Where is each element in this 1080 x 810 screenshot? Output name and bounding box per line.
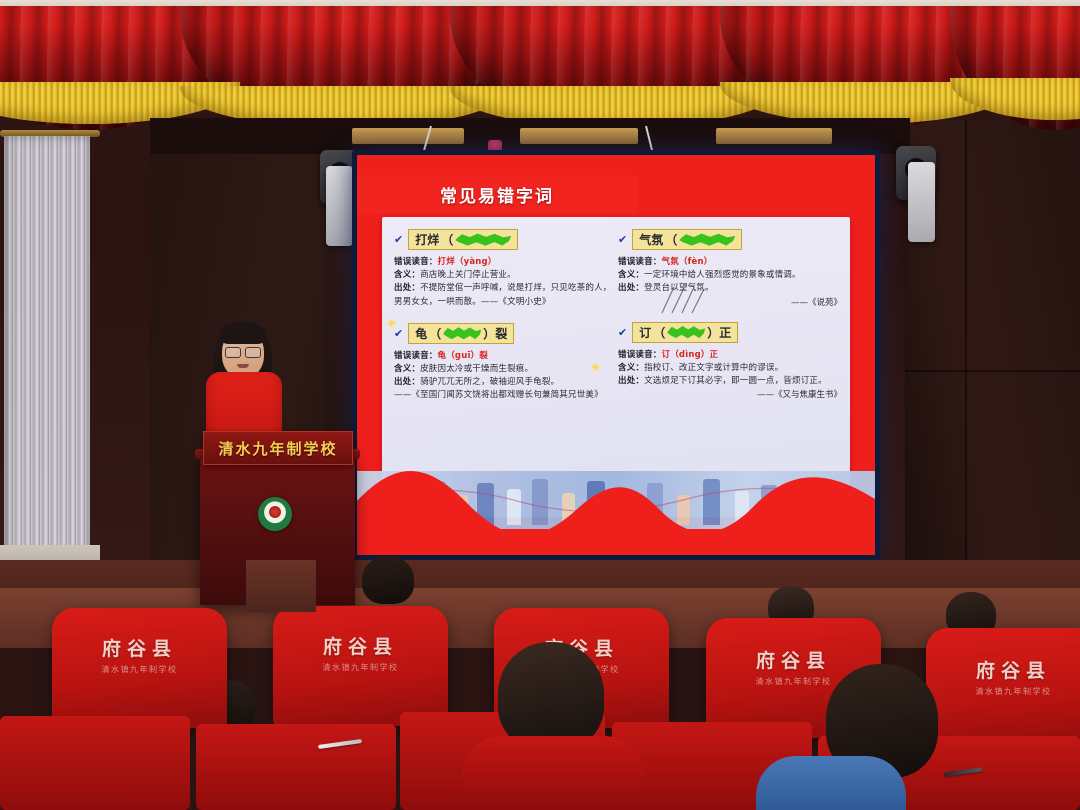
presentation-slide: 常见易错字词 ✔ 打烊 （ (357, 155, 875, 555)
meaning-label: 含义： (618, 270, 644, 280)
redaction-mark (667, 326, 705, 339)
glasses (225, 347, 261, 356)
slide-title: 常见易错字词 (440, 182, 554, 207)
keyword-char: 龟 (415, 325, 427, 342)
wood-batten-center (520, 128, 638, 144)
podium-banner-text: 清水九年制学校 (218, 438, 337, 459)
keyword-box: 订 （ ）正 (632, 322, 738, 343)
sparkle-icon: ✦ (386, 317, 397, 332)
keyword-box: 打烊 （ (408, 229, 518, 250)
wrong-reading-pinyin: （yàng） (455, 257, 497, 267)
slide-column-right: ✔ 气氛 （ 错误读音：气氛（fèn） 含义：一定环境中给人强烈感觉的景象或情调… (618, 229, 842, 414)
citation-line: ——《至国门闻苏文饶将出都戏赠长句兼简其兄世美》 (394, 389, 618, 402)
citation: ——《又与焦康生书》 (618, 388, 842, 400)
source-text: 骑驴兀兀无所之，破袖迎风手龟裂。 (420, 377, 559, 387)
seat-front[interactable] (196, 724, 396, 810)
hair-fringe (220, 322, 266, 344)
wrong-reading-word: 订 (662, 350, 671, 360)
citation: ——《至国门闻苏文饶将出都戏赠长句兼简其兄世美》 (394, 390, 603, 400)
wrong-reading-line: 错误读音：订（dìng）正 (618, 349, 842, 362)
school-crest-icon (258, 497, 292, 531)
keyword-box: 龟 （ ）裂 (408, 323, 514, 344)
wrong-reading-label: 错误读音： (394, 257, 438, 267)
meaning-text: 指校订、改正文字或计算中的谬误。 (644, 363, 783, 373)
meaning-line: 含义：指校订、改正文字或计算中的谬误。 (618, 362, 842, 375)
auditorium-photo: 常见易错字词 ✔ 打烊 （ (0, 0, 1080, 810)
podium-banner: 清水九年制学校 (203, 431, 353, 465)
seat-label-primary: 府谷县 (926, 656, 1080, 683)
source-label: 出处： (394, 377, 420, 387)
keyword-box: 气氛 （ (632, 229, 742, 250)
entry-dayang: ✔ 打烊 （ 错误读音：打烊（yàng） 含义：商店晚上关门停止营业。 (394, 229, 618, 309)
paren-open: （ (429, 325, 441, 342)
wrong-reading-word: 打烊 (438, 257, 455, 267)
check-icon: ✔ (394, 233, 403, 246)
entry-junlie: ✦ ✔ 龟 （ ）裂 错误读音：龟（guī）裂 (394, 323, 618, 403)
source-label: 出处： (618, 376, 644, 386)
citation: ——《文明小史》 (481, 297, 551, 307)
meaning-line: 含义：商店晚上关门停止营业。 (394, 269, 618, 282)
slide-column-left: ✔ 打烊 （ 错误读音：打烊（yàng） 含义：商店晚上关门停止营业。 (394, 229, 618, 416)
seat-back[interactable]: 府谷县 清水镇九年制学校 (926, 628, 1080, 748)
wrong-reading-label: 错误读音： (618, 350, 662, 360)
student-shirt-blue (756, 756, 906, 810)
sparkle-icon: ✦ (590, 361, 601, 376)
keyword-char: 打烊 (415, 231, 439, 248)
paren-open: （ (441, 231, 453, 248)
paren-open: （ (665, 231, 677, 248)
stage-valance (0, 0, 1080, 130)
speaker-cabinet-left (326, 166, 353, 246)
seat-front[interactable] (0, 716, 190, 810)
source-line: 出处：登灵台以望气氛。 (618, 282, 842, 295)
slide-title-bar: 常见易错字词 (357, 175, 637, 213)
meaning-text: 商店晚上关门停止营业。 (420, 270, 516, 280)
wrong-reading-line: 错误读音：龟（guī）裂 (394, 350, 618, 363)
seat-back[interactable]: 府谷县 清水镇九年制学校 (273, 606, 448, 726)
redaction-mark (455, 233, 511, 246)
keyword-char: 气氛 (639, 231, 663, 248)
wood-batten-left (352, 128, 464, 144)
source-line: 出处：文选烦足下订其必字，即一圆一点，皆烦订正。 (618, 375, 842, 388)
speaker-cabinet-right (908, 162, 935, 242)
entry-dingzheng: ✔ 订 （ ）正 错误读音：订（dìng）正 含义 (618, 322, 842, 401)
wrong-reading-pinyin: （dìng）正 (670, 350, 718, 360)
slide-wave-decoration (357, 455, 875, 555)
entry-qifen: ✔ 气氛 （ 错误读音：气氛（fèn） 含义：一定环境中给人强烈感觉的景象或情调… (618, 229, 842, 308)
wrong-reading-pinyin: （fèn） (679, 257, 713, 267)
check-icon: ✔ (618, 233, 627, 246)
seat-label-secondary: 清水镇九年制学校 (926, 686, 1080, 697)
wrong-reading-pinyin: （guī）裂 (446, 351, 488, 361)
keyword-char: 订 (639, 324, 651, 341)
meaning-label: 含义： (394, 270, 420, 280)
led-screen[interactable]: 常见易错字词 ✔ 打烊 （ (357, 155, 875, 555)
wrong-reading-line: 错误读音：气氛（fèn） (618, 256, 842, 269)
meaning-label: 含义： (618, 363, 644, 373)
citation: ——《说苑》 (618, 296, 842, 308)
seat-label-primary: 府谷县 (52, 634, 227, 661)
source-label: 出处： (618, 283, 644, 293)
student-head-foreground (498, 642, 604, 750)
seat-label-primary: 府谷县 (273, 632, 448, 659)
source-line: 出处：不提防堂倌一声呼喊，说是打烊，只见吃茶的人，男男女女，一哄而散。——《文明… (394, 282, 618, 308)
seat-label-secondary: 清水镇九年制学校 (52, 664, 227, 675)
source-text: 登灵台以望气氛。 (644, 283, 714, 293)
floor-gap (246, 560, 316, 612)
wrong-reading-word: 龟 (438, 351, 447, 361)
wrong-reading-label: 错误读音： (394, 351, 438, 361)
source-line: 出处：骑驴兀兀无所之，破袖迎风手龟裂。 (394, 376, 618, 389)
meaning-text: 一定环境中给人强烈感觉的景象或情调。 (644, 270, 801, 280)
meaning-line: 含义：一定环境中给人强烈感觉的景象或情调。 (618, 269, 842, 282)
wrong-reading-label: 错误读音： (618, 257, 662, 267)
wood-batten-right (716, 128, 832, 144)
redaction-mark (443, 327, 481, 340)
meaning-label: 含义： (394, 364, 420, 374)
student-shoulders (462, 736, 644, 810)
source-text: 文选烦足下订其必字，即一圆一点，皆烦订正。 (644, 376, 827, 386)
redaction-mark (679, 233, 735, 246)
meaning-text: 皮肤因太冷或干燥而生裂痕。 (420, 364, 533, 374)
keyword-suffix: ）裂 (483, 325, 507, 342)
meaning-line: 含义：皮肤因太冷或干燥而生裂痕。 (394, 363, 618, 376)
student-head (362, 556, 414, 604)
paren-open: （ (653, 324, 665, 341)
keyword-suffix: ）正 (707, 324, 731, 341)
sheer-curtain-left (4, 136, 90, 556)
seat-label-secondary: 清水镇九年制学校 (273, 662, 448, 673)
wrong-reading-word: 气氛 (662, 257, 679, 267)
seat-back[interactable]: 府谷县 清水镇九年制学校 (52, 608, 227, 728)
wrong-reading-line: 错误读音：打烊（yàng） (394, 256, 618, 269)
source-label: 出处： (394, 283, 420, 293)
check-icon: ✔ (618, 326, 627, 339)
